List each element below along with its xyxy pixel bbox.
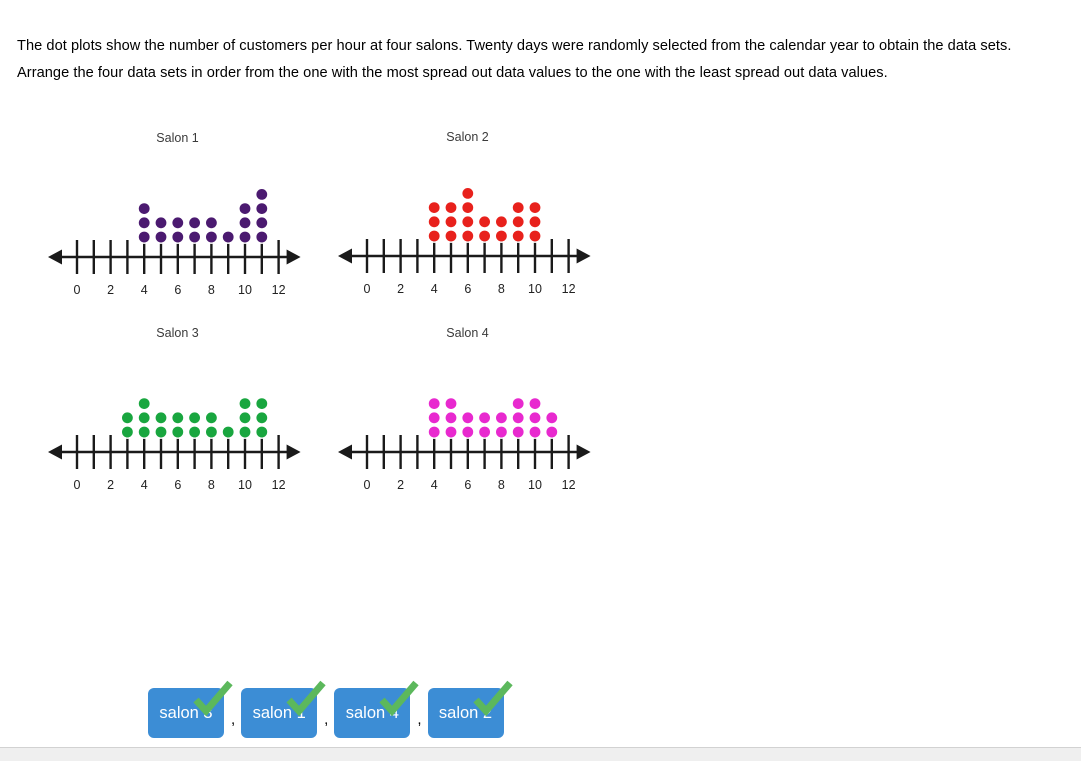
data-dot — [530, 231, 541, 242]
data-dot — [206, 427, 217, 438]
data-dot — [139, 232, 150, 243]
data-dot — [496, 231, 507, 242]
data-dot — [189, 412, 200, 423]
data-dot — [513, 202, 524, 213]
answer-tile-salon-4[interactable]: salon 4 — [334, 688, 410, 738]
axis-tick-label: 8 — [498, 282, 505, 293]
data-dot — [139, 412, 150, 423]
data-dot — [139, 398, 150, 409]
data-dot — [479, 412, 490, 423]
answer-separator: , — [231, 712, 235, 727]
data-dot — [530, 202, 541, 213]
data-dot — [496, 427, 507, 438]
axis-tick-label: 12 — [562, 282, 576, 293]
question-prompt: The dot plots show the number of custome… — [17, 33, 1063, 87]
data-dot — [530, 216, 541, 227]
answer-tile-label: salon 3 — [159, 704, 212, 723]
data-dot — [256, 412, 267, 423]
data-dot — [240, 398, 251, 409]
answer-separator: , — [324, 712, 328, 727]
data-dot — [256, 189, 267, 200]
dot-plot-canvas: 024681012 — [40, 149, 315, 294]
axis-tick-label: 12 — [272, 478, 286, 489]
data-dot — [189, 217, 200, 228]
axis-tick-label: 10 — [528, 282, 542, 293]
data-dot — [462, 231, 473, 242]
axis-tick-label: 2 — [397, 282, 404, 293]
data-dot — [530, 427, 541, 438]
answer-tile-salon-1[interactable]: salon 1 — [241, 688, 317, 738]
data-dot — [172, 412, 183, 423]
data-dot — [530, 398, 541, 409]
data-dot — [156, 412, 167, 423]
dot-plot-canvas: 024681012 — [40, 344, 315, 489]
axis-tick-label: 6 — [174, 283, 181, 294]
data-dot — [429, 216, 440, 227]
data-dot — [256, 232, 267, 243]
data-dot — [256, 203, 267, 214]
data-dot — [206, 412, 217, 423]
axis-tick-label: 0 — [364, 282, 371, 293]
data-dot — [446, 202, 457, 213]
axis-tick-label: 6 — [464, 282, 471, 293]
axis-tick-label: 2 — [107, 478, 114, 489]
data-dot — [206, 232, 217, 243]
dot-plot-canvas: 024681012 — [330, 344, 605, 489]
data-dot — [122, 412, 133, 423]
data-dot — [172, 427, 183, 438]
axis-tick-label: 10 — [238, 478, 252, 489]
data-dot — [189, 427, 200, 438]
data-dot — [156, 427, 167, 438]
data-dot — [513, 216, 524, 227]
data-dot — [240, 203, 251, 214]
data-dot — [513, 412, 524, 423]
data-dot — [479, 216, 490, 227]
data-dot — [462, 216, 473, 227]
dot-plot-salon-4: Salon 4024681012 — [330, 326, 605, 471]
axis-tick-label: 4 — [431, 478, 438, 489]
data-dot — [446, 427, 457, 438]
axis-tick-label: 12 — [562, 478, 576, 489]
data-dot — [256, 398, 267, 409]
data-dot — [240, 412, 251, 423]
data-dot — [172, 232, 183, 243]
bottom-status-bar — [0, 747, 1081, 761]
answer-tile-label: salon 4 — [346, 704, 399, 723]
answer-separator: , — [417, 712, 421, 727]
dot-plot-title: Salon 1 — [40, 131, 315, 145]
dot-plot-title: Salon 4 — [330, 326, 605, 340]
data-dot — [223, 427, 234, 438]
data-dot — [429, 412, 440, 423]
data-dot — [429, 427, 440, 438]
data-dot — [513, 427, 524, 438]
answer-tile-salon-2[interactable]: salon 2 — [428, 688, 504, 738]
axis-tick-label: 12 — [272, 283, 286, 294]
data-dot — [546, 427, 557, 438]
data-dot — [429, 202, 440, 213]
answer-tile-label: salon 1 — [253, 704, 306, 723]
data-dot — [206, 217, 217, 228]
data-dot — [139, 203, 150, 214]
data-dot — [462, 427, 473, 438]
data-dot — [462, 188, 473, 199]
data-dot — [496, 412, 507, 423]
data-dot — [446, 412, 457, 423]
data-dot — [446, 231, 457, 242]
dot-plot-salon-3: Salon 3024681012 — [40, 326, 315, 471]
dot-plot-title: Salon 3 — [40, 326, 315, 340]
axis-tick-label: 10 — [528, 478, 542, 489]
data-dot — [429, 231, 440, 242]
axis-tick-label: 0 — [74, 283, 81, 294]
axis-tick-label: 10 — [238, 283, 252, 294]
data-dot — [256, 217, 267, 228]
axis-tick-label: 6 — [464, 478, 471, 489]
data-dot — [240, 217, 251, 228]
axis-tick-label: 4 — [141, 478, 148, 489]
axis-tick-label: 8 — [498, 478, 505, 489]
data-dot — [122, 427, 133, 438]
data-dot — [479, 427, 490, 438]
axis-tick-label: 2 — [107, 283, 114, 294]
data-dot — [156, 232, 167, 243]
answer-sequence: salon 3,salon 1,salon 4,salon 2 — [148, 688, 504, 738]
data-dot — [513, 398, 524, 409]
axis-tick-label: 4 — [431, 282, 438, 293]
data-dot — [139, 217, 150, 228]
data-dot — [139, 427, 150, 438]
axis-tick-label: 8 — [208, 478, 215, 489]
axis-tick-label: 6 — [174, 478, 181, 489]
data-dot — [256, 427, 267, 438]
data-dot — [172, 217, 183, 228]
data-dot — [446, 216, 457, 227]
data-dot — [462, 412, 473, 423]
data-dot — [530, 412, 541, 423]
data-dot — [546, 412, 557, 423]
data-dot — [240, 427, 251, 438]
data-dot — [496, 216, 507, 227]
dot-plot-salon-1: Salon 1024681012 — [40, 131, 315, 276]
axis-tick-label: 0 — [364, 478, 371, 489]
data-dot — [189, 232, 200, 243]
answer-tile-label: salon 2 — [439, 704, 492, 723]
data-dot — [223, 232, 234, 243]
axis-tick-label: 0 — [74, 478, 81, 489]
data-dot — [240, 232, 251, 243]
dot-plot-title: Salon 2 — [330, 130, 605, 144]
data-dot — [156, 217, 167, 228]
axis-tick-label: 8 — [208, 283, 215, 294]
dot-plot-question-page: The dot plots show the number of custome… — [0, 0, 1081, 761]
axis-tick-label: 4 — [141, 283, 148, 294]
data-dot — [462, 202, 473, 213]
axis-tick-label: 2 — [397, 478, 404, 489]
data-dot — [513, 231, 524, 242]
dot-plot-canvas: 024681012 — [330, 148, 605, 293]
data-dot — [446, 398, 457, 409]
dot-plot-salon-2: Salon 2024681012 — [330, 130, 605, 275]
data-dot — [429, 398, 440, 409]
data-dot — [479, 231, 490, 242]
answer-tile-salon-3[interactable]: salon 3 — [148, 688, 224, 738]
